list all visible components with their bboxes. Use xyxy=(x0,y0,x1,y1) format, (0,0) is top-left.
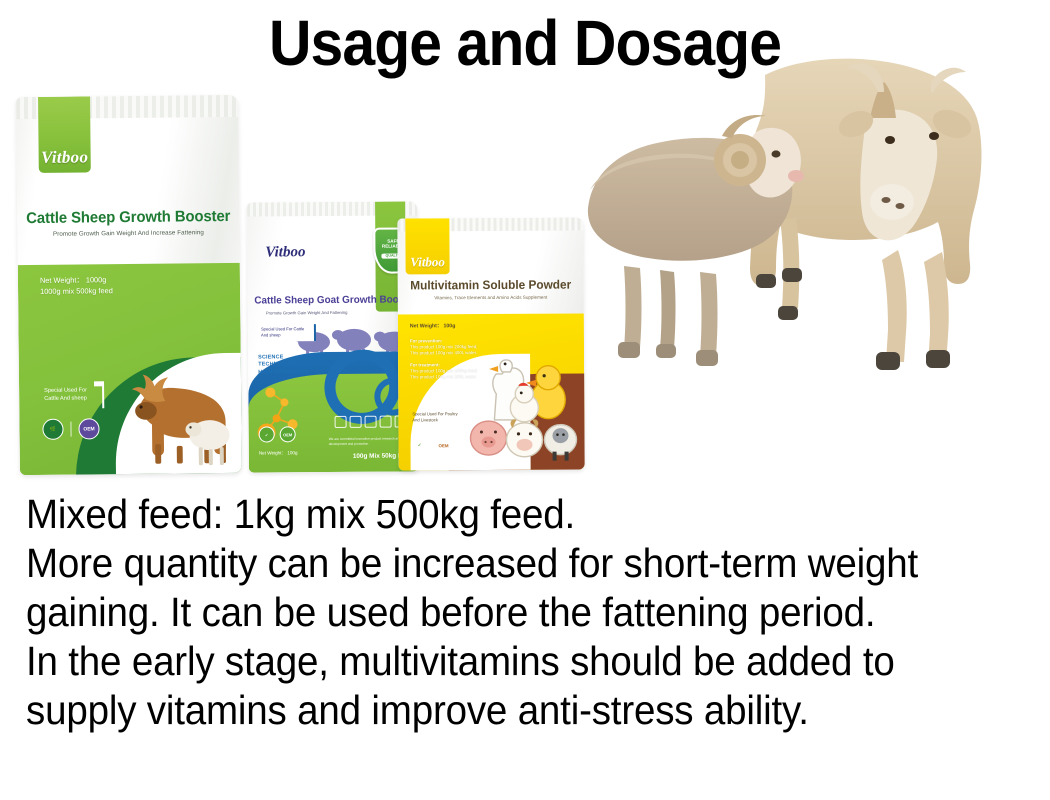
net-weight-value: Net Weight： 100g xyxy=(259,450,298,456)
feature-icon-3 xyxy=(365,416,377,428)
product-title: Cattle Sheep Goat Growth Booster xyxy=(254,294,419,306)
body-text: Mixed feed: 1kg mix 500kg feed. More qua… xyxy=(26,490,966,735)
net-weight-block: Net Weight： 1000g 1000g mix 500kg feed xyxy=(40,274,113,297)
sheep-illustration xyxy=(181,407,236,470)
feature-icon-2 xyxy=(350,416,362,428)
net-weight-value: Net Weight： 100g xyxy=(410,322,455,329)
special-use-badge: Special Used For Cattle And sheep xyxy=(42,384,104,409)
feature-icon-4 xyxy=(380,416,392,428)
body-line-1: Mixed feed: 1kg mix 500kg feed. xyxy=(26,490,966,539)
brand-tab: Vitboo xyxy=(38,96,91,173)
oem-icon: OEM xyxy=(280,426,296,442)
oem-icon: OEM xyxy=(434,436,452,454)
tagline-line-3: HIGH EFFICIENCY xyxy=(258,369,308,377)
body-line-4: In the early stage, multivitamins should… xyxy=(26,637,966,686)
product-package-cattle-sheep-goat-growth-booster: SAFE RELIABLE QUALITY Vitboo Cattle Shee… xyxy=(247,201,419,472)
leaf-icon: ✓ xyxy=(259,426,275,442)
body-line-5: supply vitamins and improve anti-stress … xyxy=(26,686,966,735)
feature-icon-1 xyxy=(335,416,347,428)
slide-root: Usage and Dosage Vitboo Cattle Sheep Gro… xyxy=(0,0,1050,800)
brand-logo-vitboo: Vitboo xyxy=(265,244,305,261)
product-title: Cattle Sheep Growth Booster xyxy=(22,208,235,228)
mix-ratio-value: 1000g mix 500kg feed xyxy=(40,285,113,297)
divider xyxy=(70,422,71,437)
net-weight-value: Net Weight： 1000g xyxy=(40,274,113,286)
feature-icon-row xyxy=(335,415,407,428)
special-use-badge: Special Used For Poultry And Livestock xyxy=(410,409,466,426)
product-package-multivitamin-soluble-powder: Vitboo Multivitamin Soluble Powder Vitam… xyxy=(397,218,584,471)
certification-marks: 🌿 OEM xyxy=(42,418,99,440)
body-line-2: More quantity can be increased for short… xyxy=(26,539,966,588)
package-footnote: We are committed innovative product rese… xyxy=(329,437,409,446)
brand-tab: Vitboo xyxy=(405,218,449,274)
ram-and-cow-photo xyxy=(560,20,1040,388)
product-title: Multivitamin Soluble Powder xyxy=(400,278,580,293)
product-subtitle: Vitamins, Trace Elements and Amino Acids… xyxy=(398,295,584,301)
body-line-3: gaining. It can be used before the fatte… xyxy=(26,588,966,637)
product-subtitle: Promote Growth Gain Weight And Increase … xyxy=(17,229,239,238)
leaf-icon: 🌿 xyxy=(42,419,63,440)
special-use-badge: Special Used For Cattle And sheep xyxy=(258,324,316,341)
brand-logo-vitboo: Vitboo xyxy=(410,254,445,270)
leaf-icon: ✓ xyxy=(410,436,428,454)
certification-marks: ✓ OEM xyxy=(259,426,296,442)
treatment-heading: For treatment: xyxy=(410,362,440,367)
product-subtitle: Promote Growth Gain Weight And Fattening xyxy=(266,310,348,316)
certification-marks: ✓ OEM xyxy=(410,436,452,454)
product-package-cattle-sheep-growth-booster: Vitboo Cattle Sheep Growth Booster Promo… xyxy=(16,95,242,475)
tagline-block: SCIENCE TECHNOLOGY HIGH EFFICIENCY xyxy=(258,354,308,377)
brand-logo-vitboo: Vitboo xyxy=(41,147,88,167)
oem-icon: OEM xyxy=(78,418,99,439)
prevention-heading: For prevention: xyxy=(410,338,442,343)
